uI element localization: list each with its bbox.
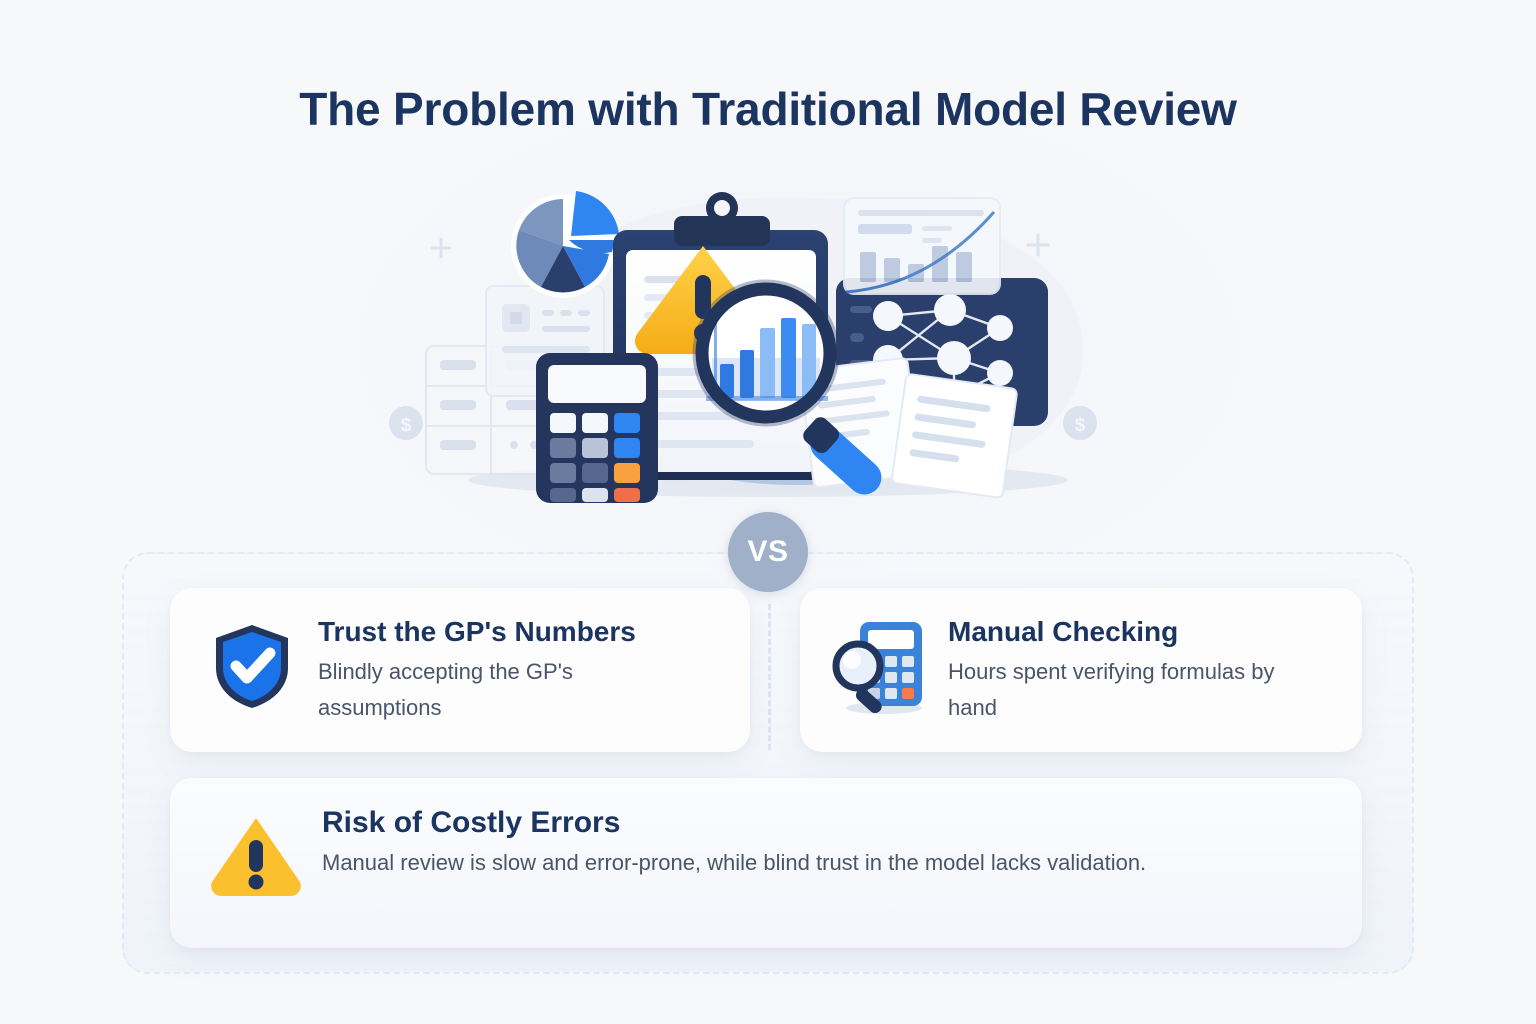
infographic-canvas: The Problem with Traditional Model Revie… — [0, 0, 1536, 1024]
card-title: Manual Checking — [948, 616, 1332, 648]
card-title: Trust the GP's Numbers — [318, 616, 720, 648]
comparison-divider — [768, 604, 771, 750]
svg-text:$: $ — [401, 415, 412, 436]
shield-check-icon — [200, 614, 304, 718]
dollar-coin-icon: $ — [389, 406, 423, 440]
card-description: Blindly accepting the GP's assumptions — [318, 654, 678, 725]
card-text-block: Trust the GP's Numbers Blindly accepting… — [318, 614, 720, 725]
hero-illustration: $ $ — [388, 168, 1148, 518]
calculator-magnifier-icon — [830, 614, 934, 718]
calculator — [536, 353, 658, 503]
comparison-card-trust[interactable]: Trust the GP's Numbers Blindly accepting… — [170, 588, 750, 752]
card-text-block: Manual Checking Hours spent verifying fo… — [948, 614, 1332, 725]
card-description: Hours spent verifying formulas by hand — [948, 654, 1308, 725]
card-title: Risk of Costly Errors — [322, 806, 1328, 841]
summary-card-risk[interactable]: Risk of Costly Errors Manual review is s… — [170, 778, 1362, 948]
dollar-coin-icon-right: $ — [1063, 406, 1097, 440]
vs-badge: VS — [728, 512, 808, 592]
page-title: The Problem with Traditional Model Revie… — [0, 82, 1536, 136]
dashboard-card — [844, 198, 1000, 294]
card-text-block: Risk of Costly Errors Manual review is s… — [322, 804, 1328, 880]
comparison-card-manual[interactable]: Manual Checking Hours spent verifying fo… — [800, 588, 1362, 752]
svg-text:$: $ — [1075, 415, 1086, 436]
warning-triangle-icon — [204, 804, 308, 908]
card-description: Manual review is slow and error-prone, w… — [322, 845, 1322, 881]
